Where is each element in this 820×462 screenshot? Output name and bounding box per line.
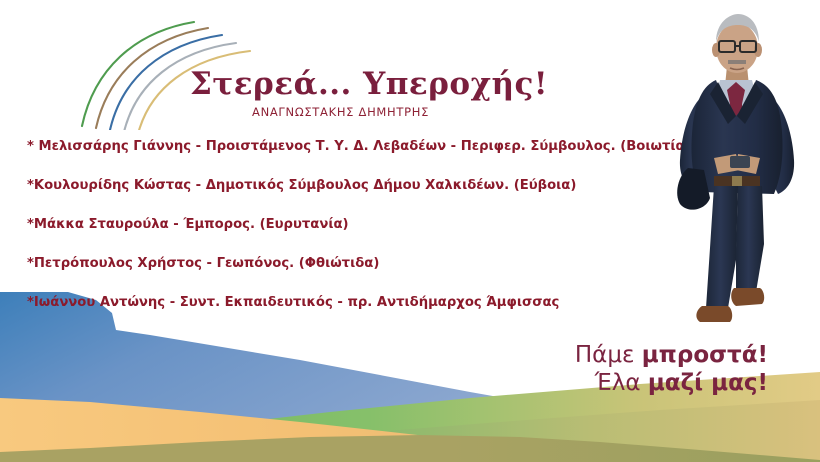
trousers-right-leg [736,186,764,292]
logo-arc-green [82,22,194,126]
brand-headline-block: Στερεά... Υπεροχής! ΑΝΑΓΝΩΣΤΑΚΗΣ ΔΗΜΗΤΡΗ… [190,68,610,119]
list-item: *Μάκκα Σταυρούλα - Έμπορος. (Ευρυτανία) [27,216,687,255]
slogan-line-1: Πάμε μπροστά! [575,341,768,369]
head [716,23,758,73]
candidate-list: * Μελισσάρης Γιάννης - Προιστάμενος Τ. Υ… [27,138,687,333]
candidate-name-subtitle: ΑΝΑΓΝΩΣΤΑΚΗΣ ΔΗΜΗΤΡΗΣ [252,105,610,119]
wave-olive [0,435,820,462]
campaign-poster: Στερεά... Υπεροχής! ΑΝΑΓΝΩΣΤΑΚΗΣ ΔΗΜΗΤΡΗ… [0,0,820,462]
slogan-line-1-bold: μπροστά! [642,342,768,368]
list-item: *Πετρόπουλος Χρήστος - Γεωπόνος. (Φθιώτι… [27,255,687,294]
slogan-line-1-light: Πάμε [575,342,642,368]
wave-green-lower [0,400,820,462]
moustache [728,60,746,64]
page-title: Στερεά... Υπεροχής! [190,68,610,101]
slogan-line-2: Έλα μαζί μας! [575,369,768,397]
slogan-line-2-light: Έλα [595,370,648,396]
list-item: *Ιωάννου Αντώνης - Συντ. Εκπαιδευτικός -… [27,294,687,333]
wave-orange [0,398,520,462]
campaign-slogan: Πάμε μπροστά! Έλα μαζί μας! [575,341,768,397]
phone [730,156,750,168]
belt-buckle [732,176,742,186]
shoe-left [696,306,732,322]
list-item: *Κουλουρίδης Κώστας - Δημοτικός Σύμβουλο… [27,177,687,216]
candidate-photo [652,8,820,328]
shoe-right [731,288,764,306]
list-item: * Μελισσάρης Γιάννης - Προιστάμενος Τ. Υ… [27,138,687,177]
slogan-line-2-bold: μαζί μας! [648,370,768,396]
wave-blue-lower [0,400,600,462]
